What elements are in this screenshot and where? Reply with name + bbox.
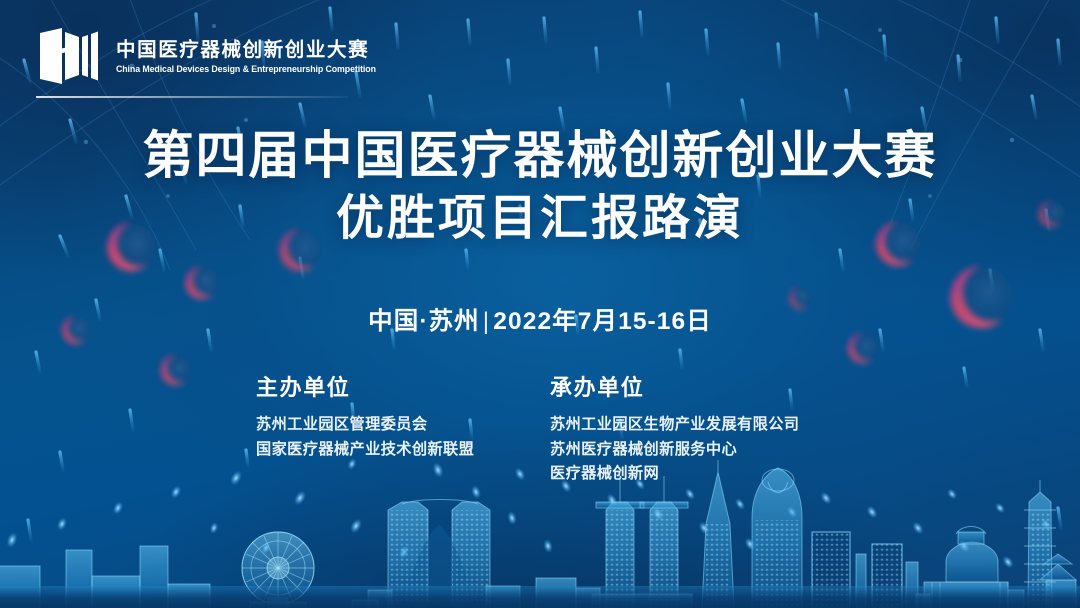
open-door-window-logo-icon [36, 26, 102, 86]
logo-wordmark: 中国医疗器械创新创业大赛 China Medical Devices Desig… [116, 37, 392, 74]
skyline-ground-base [0, 586, 1080, 608]
organizer-column-host: 主办单位 苏州工业园区管理委员会 国家医疗器械产业技术创新联盟 [240, 370, 540, 487]
organizer-line: 苏州工业园区管理委员会 [256, 413, 540, 438]
logo-chinese-name: 中国医疗器械创新创业大赛 [116, 39, 392, 61]
event-logo: 中国医疗器械创新创业大赛 China Medical Devices Desig… [36, 26, 392, 86]
organizer-line: 国家医疗器械产业技术创新联盟 [256, 438, 540, 463]
organizer-column-coorganizer: 承办单位 苏州工业园区生物产业发展有限公司 苏州医疗器械创新服务中心 医疗器械创… [540, 370, 840, 487]
organizer-line: 医疗器械创新网 [550, 462, 840, 487]
organizer-line: 苏州医疗器械创新服务中心 [550, 438, 840, 463]
venue-date: 2022年7月15-16日 [493, 308, 712, 335]
page-title: 第四届中国医疗器械创新创业大赛 优胜项目汇报路演 [0, 124, 1080, 252]
organizer-title: 承办单位 [550, 370, 840, 402]
logo-english-name: China Medical Devices Design & Entrepren… [116, 64, 376, 75]
poster-canvas: 中国医疗器械创新创业大赛 China Medical Devices Desig… [0, 0, 1080, 608]
organizer-line: 苏州工业园区生物产业发展有限公司 [550, 413, 840, 438]
logo-divider-rule [36, 96, 348, 98]
organizer-section: 主办单位 苏州工业园区管理委员会 国家医疗器械产业技术创新联盟 承办单位 苏州工… [0, 370, 1080, 487]
venue-location: 中国·苏州 [368, 308, 480, 335]
headline-line-1: 第四届中国医疗器械创新创业大赛 [0, 124, 1080, 187]
venue-separator: | [480, 308, 493, 335]
organizer-title: 主办单位 [256, 370, 540, 402]
headline-line-2: 优胜项目汇报路演 [0, 187, 1080, 251]
venue-and-date: 中国·苏州|2022年7月15-16日 [0, 302, 1080, 337]
